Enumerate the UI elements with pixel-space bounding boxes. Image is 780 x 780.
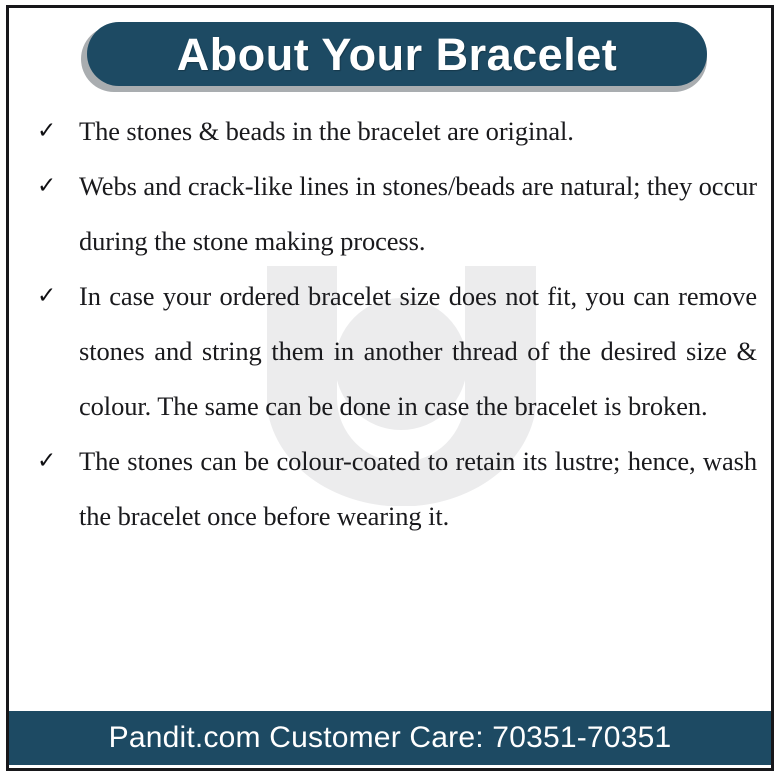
- bracelet-info-card-page: About Your Bracelet ✓ The stones & beads…: [0, 0, 780, 780]
- list-item-text: In case your ordered bracelet size does …: [79, 269, 757, 434]
- list-item: ✓ Webs and crack-like lines in stones/be…: [9, 159, 771, 269]
- header-pill: About Your Bracelet: [87, 22, 707, 86]
- list-item: ✓ In case your ordered bracelet size doe…: [9, 269, 771, 434]
- customer-care-text: Pandit.com Customer Care: 70351-70351: [109, 721, 672, 755]
- checkmark-icon: ✓: [27, 159, 79, 214]
- info-card: About Your Bracelet ✓ The stones & beads…: [6, 5, 774, 771]
- checkmark-icon: ✓: [27, 269, 79, 324]
- checkmark-icon: ✓: [27, 104, 79, 159]
- list-item-text: Webs and crack-like lines in stones/bead…: [79, 159, 757, 269]
- list-item: ✓ The stones & beads in the bracelet are…: [9, 104, 771, 159]
- checkmark-icon: ✓: [27, 434, 79, 489]
- list-item-text: The stones & beads in the bracelet are o…: [79, 104, 757, 159]
- list-item: ✓ The stones can be colour-coated to ret…: [9, 434, 771, 544]
- footer-bar: Pandit.com Customer Care: 70351-70351: [9, 711, 771, 765]
- bullet-list: ✓ The stones & beads in the bracelet are…: [9, 104, 771, 544]
- page-title: About Your Bracelet: [177, 32, 617, 77]
- list-item-text: The stones can be colour-coated to retai…: [79, 434, 757, 544]
- header: About Your Bracelet: [9, 8, 771, 103]
